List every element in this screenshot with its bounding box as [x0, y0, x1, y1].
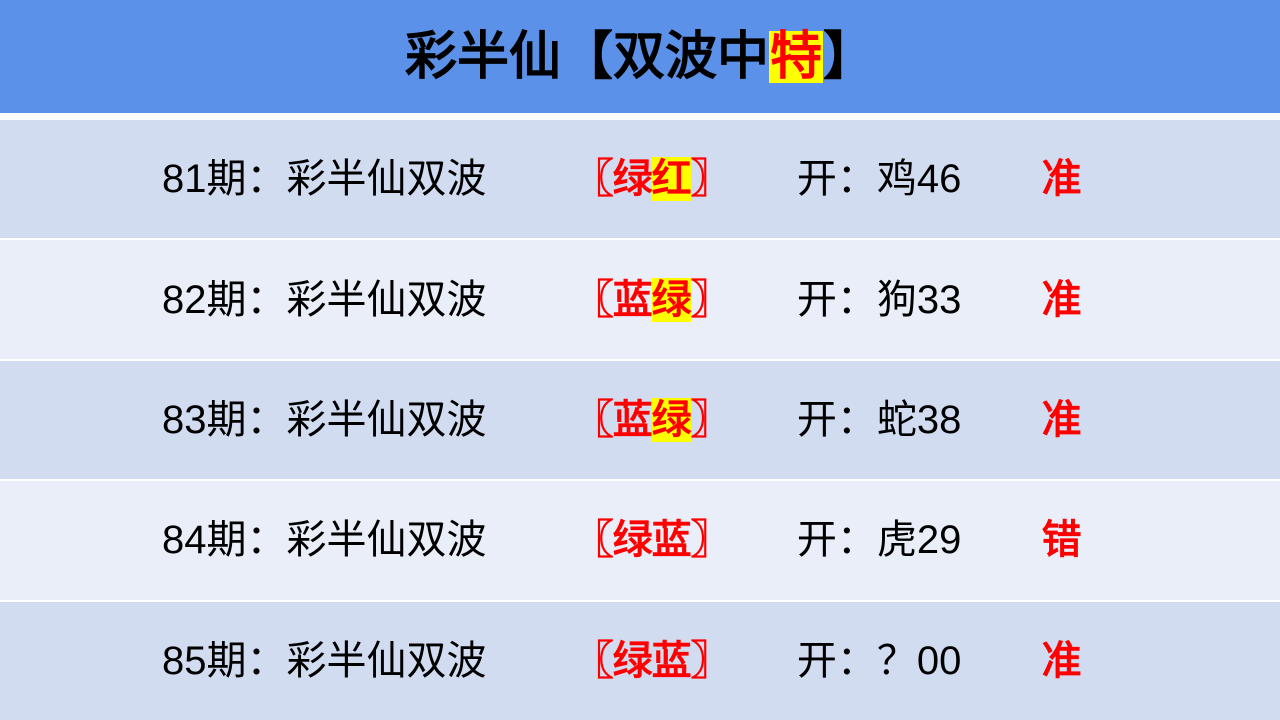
bracket-close-icon: 〗 — [691, 400, 730, 440]
open-value: ？00 — [877, 641, 962, 681]
open-label: 开： — [797, 641, 877, 681]
page-title-highlight: 特 — [769, 31, 823, 83]
status-badge: 准 — [1042, 400, 1120, 440]
status-badge: 准 — [1042, 159, 1120, 199]
table-row[interactable]: 82期：彩半仙双波 〖蓝绿〗 开：狗33 准 — [0, 240, 1280, 360]
bracket-close-icon: 〗 — [691, 159, 730, 199]
forecast-color-first: 绿 — [613, 518, 652, 562]
open-label: 开： — [797, 159, 877, 199]
forecast-color-first: 绿 — [613, 157, 652, 201]
open-result: 开：虎29 — [779, 520, 1042, 560]
issue-label: 84期：彩半仙双波 — [160, 520, 524, 560]
forecast-color-second: 红 — [652, 157, 691, 201]
table-row[interactable]: 83期：彩半仙双波 〖蓝绿〗 开：蛇38 准 — [0, 361, 1280, 481]
issue-label: 82期：彩半仙双波 — [160, 280, 524, 320]
forecast-value: 〖绿红〗 — [524, 157, 779, 201]
bracket-open-icon: 〖 — [574, 641, 613, 681]
forecast-color-second: 蓝 — [652, 518, 691, 562]
open-label: 开： — [797, 520, 877, 560]
forecast-color-second: 绿 — [652, 398, 691, 442]
bracket-open-icon: 〖 — [574, 280, 613, 320]
table-row[interactable]: 85期：彩半仙双波 〖绿蓝〗 开：？00 准 — [0, 602, 1280, 720]
forecast-value: 〖绿蓝〗 — [524, 639, 779, 683]
bracket-open-icon: 〖 — [574, 400, 613, 440]
forecast-color-first: 蓝 — [613, 398, 652, 442]
page-title-suffix: 】 — [823, 31, 875, 83]
open-result: 开：蛇38 — [779, 400, 1042, 440]
forecast-color-second: 绿 — [652, 278, 691, 322]
status-badge: 错 — [1042, 520, 1120, 560]
page-title: 彩半仙【双波中特】 — [405, 31, 875, 83]
forecast-color-first: 蓝 — [613, 278, 652, 322]
open-value: 狗33 — [877, 280, 962, 320]
open-value: 蛇38 — [877, 400, 962, 440]
board-header: 彩半仙【双波中特】 — [0, 0, 1280, 113]
open-result: 开：？00 — [779, 641, 1042, 681]
open-label: 开： — [797, 280, 877, 320]
forecast-value: 〖蓝绿〗 — [524, 398, 779, 442]
status-badge: 准 — [1042, 641, 1120, 681]
open-result: 开：狗33 — [779, 280, 1042, 320]
table-row[interactable]: 84期：彩半仙双波 〖绿蓝〗 开：虎29 错 — [0, 481, 1280, 601]
table-row[interactable]: 81期：彩半仙双波 〖绿红〗 开：鸡46 准 — [0, 120, 1280, 240]
forecast-color-first: 绿 — [613, 639, 652, 683]
issue-label: 83期：彩半仙双波 — [160, 400, 524, 440]
open-value: 鸡46 — [877, 159, 962, 199]
open-label: 开： — [797, 400, 877, 440]
bracket-close-icon: 〗 — [691, 641, 730, 681]
forecast-color-second: 蓝 — [652, 639, 691, 683]
open-result: 开：鸡46 — [779, 159, 1042, 199]
bracket-close-icon: 〗 — [691, 280, 730, 320]
header-divider — [0, 113, 1280, 120]
bracket-open-icon: 〖 — [574, 159, 613, 199]
bracket-open-icon: 〖 — [574, 520, 613, 560]
open-value: 虎29 — [877, 520, 962, 560]
prediction-board: 彩半仙【双波中特】 81期：彩半仙双波 〖绿红〗 开：鸡46 准 82期：彩半仙… — [0, 0, 1280, 720]
status-badge: 准 — [1042, 280, 1120, 320]
issue-label: 85期：彩半仙双波 — [160, 641, 524, 681]
prediction-row-list: 81期：彩半仙双波 〖绿红〗 开：鸡46 准 82期：彩半仙双波 〖蓝绿〗 开：… — [0, 120, 1280, 720]
forecast-value: 〖蓝绿〗 — [524, 278, 779, 322]
page-title-prefix: 彩半仙【双波中 — [405, 31, 769, 83]
bracket-close-icon: 〗 — [691, 520, 730, 560]
forecast-value: 〖绿蓝〗 — [524, 518, 779, 562]
issue-label: 81期：彩半仙双波 — [160, 159, 524, 199]
